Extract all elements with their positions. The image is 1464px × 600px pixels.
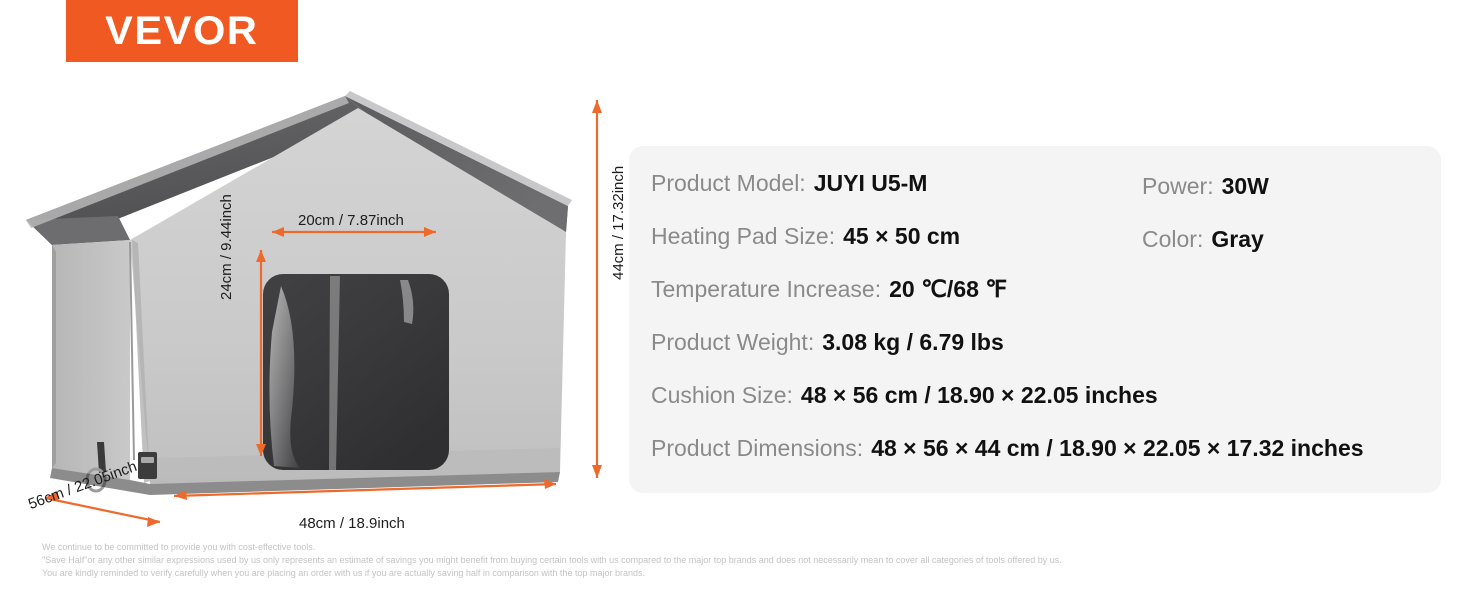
arrowhead-ht-top <box>592 100 602 113</box>
product-label-tag <box>138 452 157 479</box>
spec-row-product-weight: Product Weight: 3.08 kg / 6.79 lbs <box>629 329 1441 382</box>
spec-value-cushion-size: 48 × 56 cm / 18.90 × 22.05 inches <box>801 382 1158 409</box>
spec-row-heating-pad-size: Heating Pad Size: 45 × 50 cm <box>629 223 1441 276</box>
spec-label-heating-pad-size: Heating Pad Size: <box>651 223 835 250</box>
wall-left-side <box>52 240 130 480</box>
dimension-label-house-height: 44cm / 17.32inch <box>610 166 627 280</box>
disclaimer-line-1: We continue to be committed to provide y… <box>42 541 1342 554</box>
brand-name: VEVOR <box>105 9 258 54</box>
spec-label-product-model: Product Model: <box>651 170 806 197</box>
spec-value-color: Gray <box>1211 226 1263 253</box>
spec-value-heating-pad-size: 45 × 50 cm <box>843 223 960 250</box>
spec-row-temperature-increase: Temperature Increase: 20 ℃/68 ℉ <box>629 276 1441 329</box>
spec-value-product-weight: 3.08 kg / 6.79 lbs <box>822 329 1004 356</box>
spec-value-product-dimensions: 48 × 56 × 44 cm / 18.90 × 22.05 × 17.32 … <box>871 435 1363 462</box>
spec-row-cushion-size: Cushion Size: 48 × 56 cm / 18.90 × 22.05… <box>629 382 1441 435</box>
product-label-text <box>141 457 154 463</box>
spec-label-product-dimensions: Product Dimensions: <box>651 435 863 462</box>
spec-label-cushion-size: Cushion Size: <box>651 382 793 409</box>
vevor-logo: VEVOR <box>66 0 298 62</box>
spec-label-product-weight: Product Weight: <box>651 329 814 356</box>
spec-value-temperature-increase: 20 ℃/68 ℉ <box>889 276 1007 303</box>
spec-row-product-model: Product Model: JUYI U5-M <box>629 170 1441 223</box>
spec-value-product-model: JUYI U5-M <box>814 170 928 197</box>
specifications-panel: Product Model: JUYI U5-M Heating Pad Siz… <box>629 146 1441 493</box>
pet-house-illustration <box>0 80 620 540</box>
spec-value-power: 30W <box>1222 173 1269 200</box>
spec-label-color: Color: <box>1142 226 1203 253</box>
spec-label-temperature-increase: Temperature Increase: <box>651 276 881 303</box>
arrowhead-ht-bottom <box>592 465 602 478</box>
spec-row-product-dimensions: Product Dimensions: 48 × 56 × 44 cm / 18… <box>629 435 1441 488</box>
product-spec-page: VEVOR <box>0 0 1464 600</box>
product-image <box>0 80 620 540</box>
wall-left-seam <box>52 245 56 468</box>
dimension-label-window-height: 24cm / 9.44inch <box>218 194 235 300</box>
spec-label-power: Power: <box>1142 173 1214 200</box>
dimension-label-window-width: 20cm / 7.87inch <box>298 212 404 229</box>
disclaimer-line-3: You are kindly reminded to verify carefu… <box>42 567 1342 580</box>
spec-row-color: Color: Gray <box>1142 226 1264 253</box>
dimension-label-house-width: 48cm / 18.9inch <box>299 515 405 532</box>
disclaimer-text: We continue to be committed to provide y… <box>42 541 1342 580</box>
spec-row-power: Power: 30W <box>1142 173 1269 200</box>
disclaimer-line-2: "Save Half"or any other similar expressi… <box>42 554 1342 567</box>
arrowhead-dp-right <box>147 517 160 527</box>
